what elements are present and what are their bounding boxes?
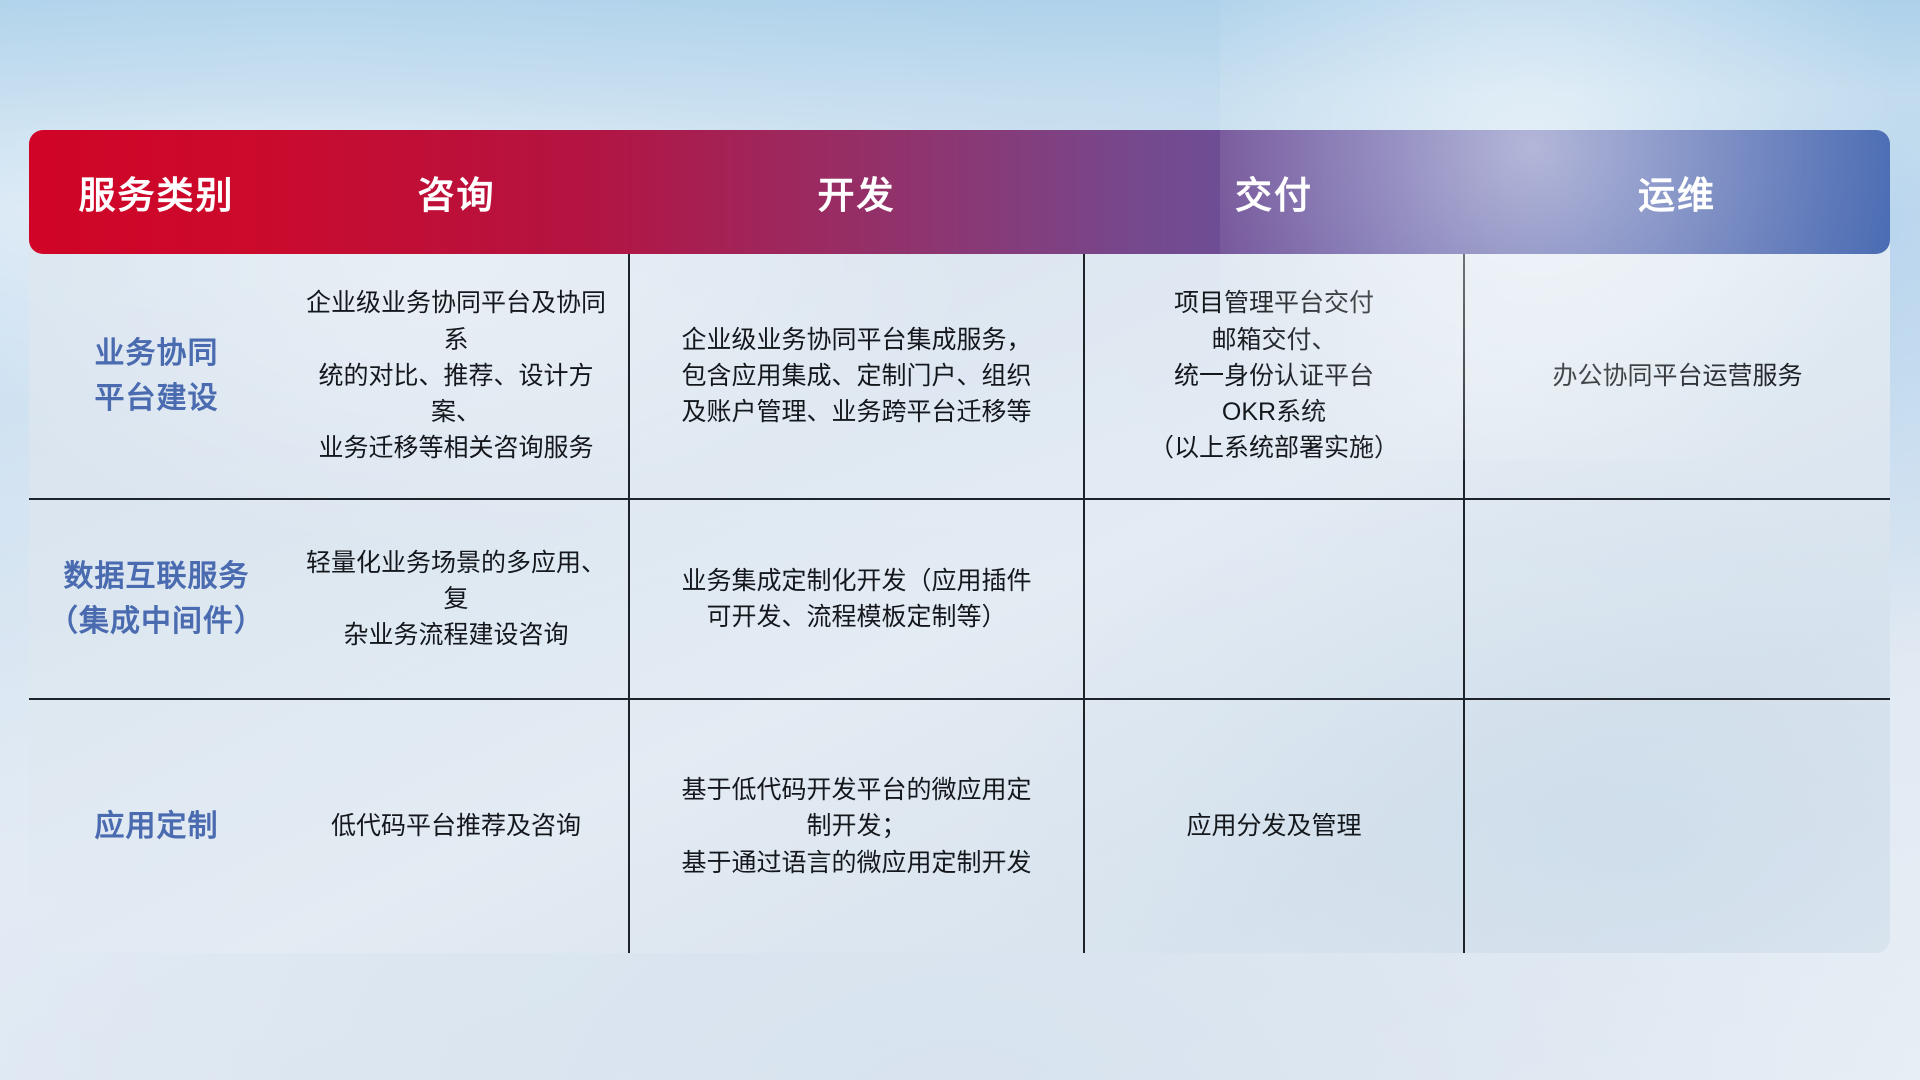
cell-text: 办公协同平台运营服务	[1483, 358, 1872, 394]
row-category-label: 业务协同 平台建设	[29, 254, 284, 499]
cell-consulting: 轻量化业务场景的多应用、复 杂业务流程建设咨询	[284, 499, 629, 699]
header-cell-development: 开发	[629, 130, 1084, 254]
cell-development: 基于低代码开发平台的微应用定 制开发； 基于通过语言的微应用定制开发	[629, 699, 1084, 953]
header-label-category: 服务类别	[79, 165, 235, 219]
header-cell-category: 服务类别	[29, 130, 284, 254]
header-cell-consulting: 咨询	[284, 130, 629, 254]
service-category-table-wrapper: 服务类别 咨询 开发 交付 运维	[29, 130, 1890, 953]
slide-canvas: 服务类别 咨询 开发 交付 运维	[0, 0, 1920, 1080]
cell-operations	[1464, 499, 1890, 699]
header-cell-operations: 运维	[1464, 130, 1890, 254]
cell-consulting: 企业级业务协同平台及协同系 统的对比、推荐、设计方案、 业务迁移等相关咨询服务	[284, 254, 629, 499]
cell-operations: 办公协同平台运营服务	[1464, 254, 1890, 499]
cell-text: 轻量化业务场景的多应用、复 杂业务流程建设咨询	[302, 545, 610, 654]
cell-text: 企业级业务协同平台及协同系 统的对比、推荐、设计方案、 业务迁移等相关咨询服务	[302, 285, 610, 466]
cell-delivery: 应用分发及管理	[1084, 699, 1464, 953]
table-header: 服务类别 咨询 开发 交付 运维	[29, 130, 1890, 254]
table-row: 应用定制 低代码平台推荐及咨询 基于低代码开发平台的微应用定 制开发； 基于通过…	[29, 699, 1890, 953]
cell-text: 业务集成定制化开发（应用插件 可开发、流程模板定制等）	[648, 563, 1065, 636]
cell-operations	[1464, 699, 1890, 953]
cell-consulting: 低代码平台推荐及咨询	[284, 699, 629, 953]
cell-text: 应用定制	[47, 804, 266, 849]
cell-text: 低代码平台推荐及咨询	[302, 808, 610, 844]
row-category-label: 应用定制	[29, 699, 284, 953]
cell-text: 业务协同 平台建设	[47, 331, 266, 421]
header-cell-delivery: 交付	[1084, 130, 1464, 254]
service-category-table: 服务类别 咨询 开发 交付 运维	[29, 130, 1890, 953]
table-body: 业务协同 平台建设 企业级业务协同平台及协同系 统的对比、推荐、设计方案、 业务…	[29, 254, 1890, 953]
header-label-delivery: 交付	[1235, 165, 1313, 219]
header-label-consulting: 咨询	[418, 165, 496, 219]
cell-text: 基于低代码开发平台的微应用定 制开发； 基于通过语言的微应用定制开发	[648, 772, 1065, 881]
cell-text: 数据互联服务 （集成中间件）	[47, 554, 266, 644]
cell-delivery	[1084, 499, 1464, 699]
header-label-operations: 运维	[1638, 165, 1716, 219]
header-row: 服务类别 咨询 开发 交付 运维	[29, 130, 1890, 254]
cell-text: 应用分发及管理	[1103, 808, 1445, 844]
cell-text: 项目管理平台交付 邮箱交付、 统一身份认证平台 OKR系统 （以上系统部署实施）	[1103, 285, 1445, 466]
cell-text: 企业级业务协同平台集成服务， 包含应用集成、定制门户、组织 及账户管理、业务跨平…	[648, 322, 1065, 431]
table-row: 数据互联服务 （集成中间件） 轻量化业务场景的多应用、复 杂业务流程建设咨询 业…	[29, 499, 1890, 699]
cell-development: 业务集成定制化开发（应用插件 可开发、流程模板定制等）	[629, 499, 1084, 699]
row-category-label: 数据互联服务 （集成中间件）	[29, 499, 284, 699]
cell-delivery: 项目管理平台交付 邮箱交付、 统一身份认证平台 OKR系统 （以上系统部署实施）	[1084, 254, 1464, 499]
cell-development: 企业级业务协同平台集成服务， 包含应用集成、定制门户、组织 及账户管理、业务跨平…	[629, 254, 1084, 499]
table-row: 业务协同 平台建设 企业级业务协同平台及协同系 统的对比、推荐、设计方案、 业务…	[29, 254, 1890, 499]
header-label-development: 开发	[818, 165, 896, 219]
